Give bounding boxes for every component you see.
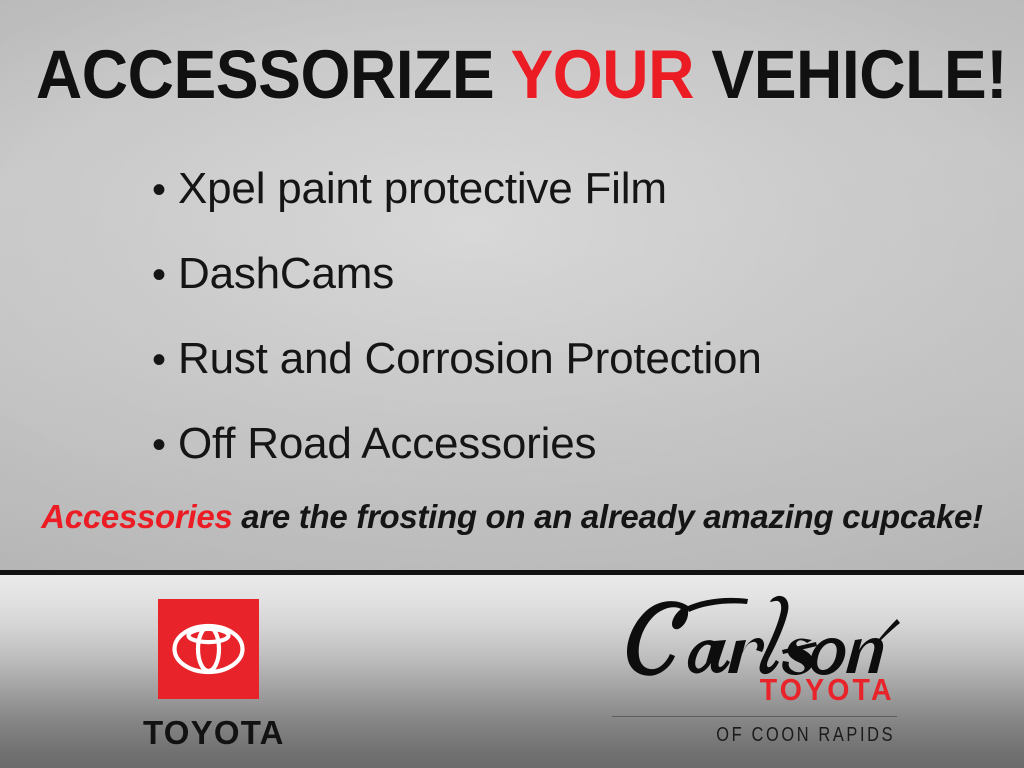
headline: ACCESSORIZE YOUR VEHICLE! bbox=[36, 40, 988, 109]
list-item-label: Xpel paint protective Film bbox=[178, 146, 667, 231]
list-item-label: Off Road Accessories bbox=[178, 401, 596, 486]
list-item: • Xpel paint protective Film bbox=[152, 146, 972, 231]
list-item: • DashCams bbox=[152, 231, 972, 316]
dealer-logo-rule bbox=[612, 716, 897, 717]
dealer-brand-toyota: TOYOTA bbox=[760, 673, 895, 707]
tagline: Accessories are the frosting on an alrea… bbox=[0, 498, 1024, 536]
slide-footer: TOYOTA Carlson bbox=[0, 575, 1024, 768]
list-item-label: DashCams bbox=[178, 231, 394, 316]
list-item: • Rust and Corrosion Protection bbox=[152, 316, 972, 401]
bullet-dot-icon: • bbox=[152, 233, 178, 318]
bullet-dot-icon: • bbox=[152, 148, 178, 233]
headline-accent-your: YOUR bbox=[510, 36, 694, 113]
feature-list: • Xpel paint protective Film • DashCams … bbox=[152, 146, 972, 486]
bullet-dot-icon: • bbox=[152, 318, 178, 403]
promo-slide: ACCESSORIZE YOUR VEHICLE! • Xpel paint p… bbox=[0, 0, 1024, 768]
toyota-emblem-icon bbox=[158, 599, 259, 699]
tagline-rest: are the frosting on an already amazing c… bbox=[232, 498, 982, 535]
tagline-accent-word: Accessories bbox=[41, 498, 232, 535]
section-divider bbox=[0, 570, 1024, 575]
headline-after: VEHICLE! bbox=[694, 36, 1007, 113]
bullet-dot-icon: • bbox=[152, 403, 178, 488]
dealer-location: OF COON RAPIDS bbox=[716, 723, 895, 747]
headline-before: ACCESSORIZE bbox=[36, 36, 511, 113]
dealer-logo: Carlson bbox=[610, 593, 900, 753]
toyota-wordmark: TOYOTA bbox=[143, 715, 283, 751]
list-item-label: Rust and Corrosion Protection bbox=[178, 316, 762, 401]
slide-main-area: ACCESSORIZE YOUR VEHICLE! • Xpel paint p… bbox=[0, 0, 1024, 572]
list-item: • Off Road Accessories bbox=[152, 401, 972, 486]
